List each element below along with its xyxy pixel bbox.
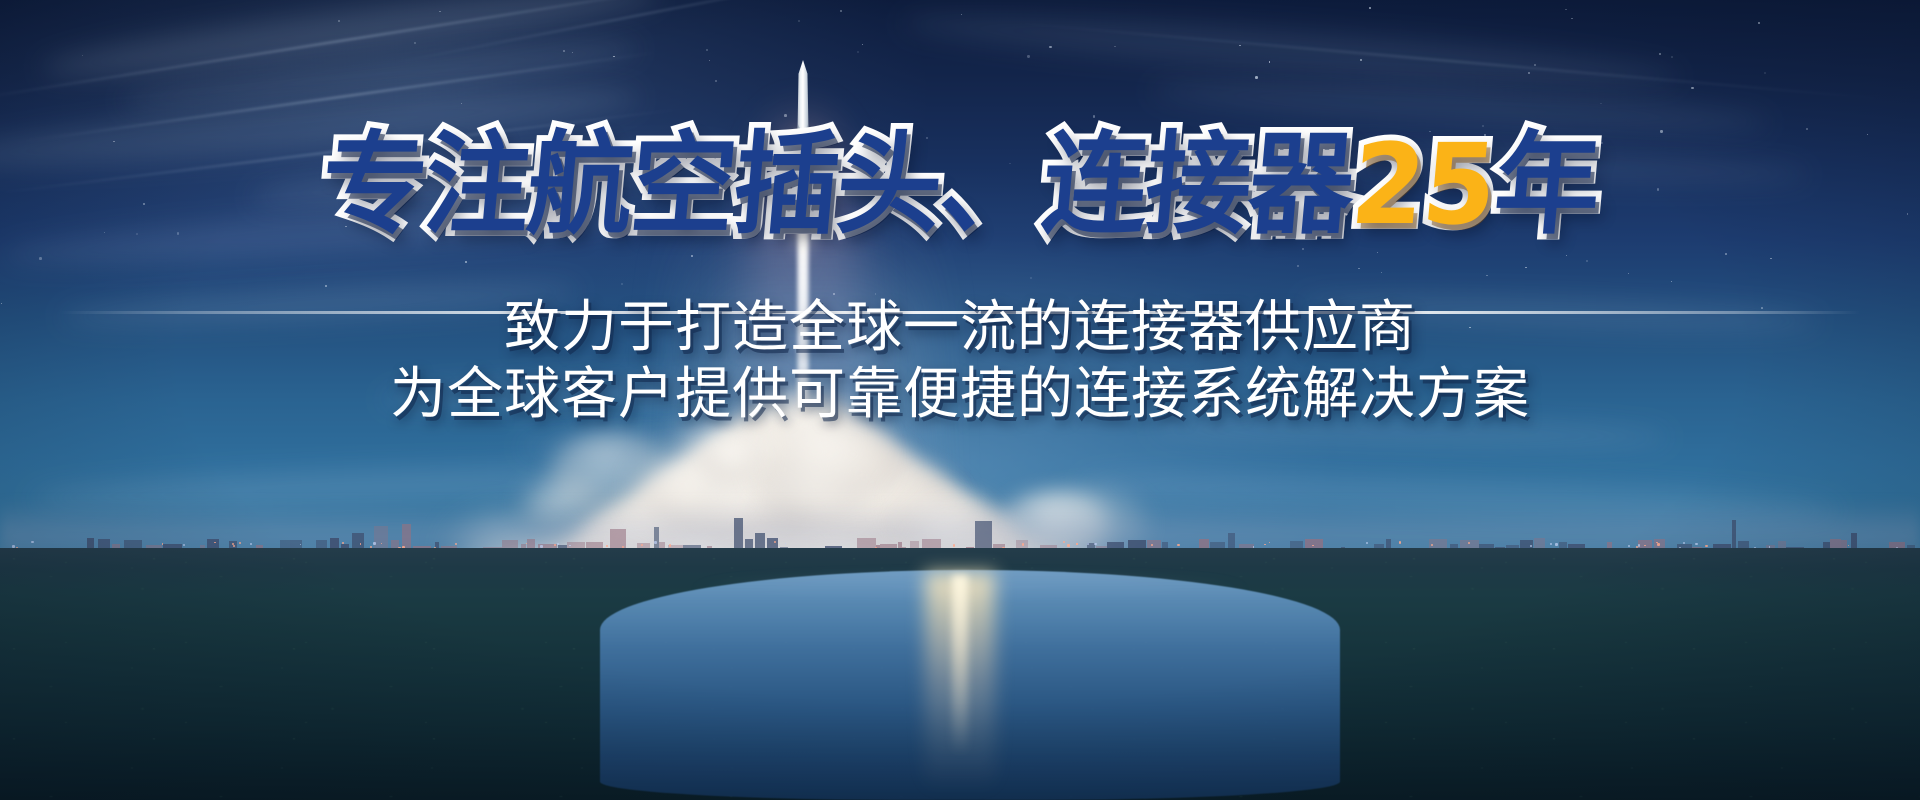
hero-banner: 专注航空插头、连接器25年 致力于打造全球一流的连接器供应商 为全球客户提供可靠… [0,0,1920,800]
banner-subtitle: 致力于打造全球一流的连接器供应商 为全球客户提供可靠便捷的连接系统解决方案 [0,294,1920,428]
headline-segment-2: 年 [1490,129,1603,243]
subtitle-line-1: 致力于打造全球一流的连接器供应商 [0,294,1920,361]
subtitle-line-2: 为全球客户提供可靠便捷的连接系统解决方案 [0,361,1920,428]
banner-headline: 专注航空插头、连接器25年 [0,132,1920,239]
headline-segment-0: 专注航空插头、连接器 [317,129,1357,243]
headline-segment-1: 25 [1347,129,1499,243]
